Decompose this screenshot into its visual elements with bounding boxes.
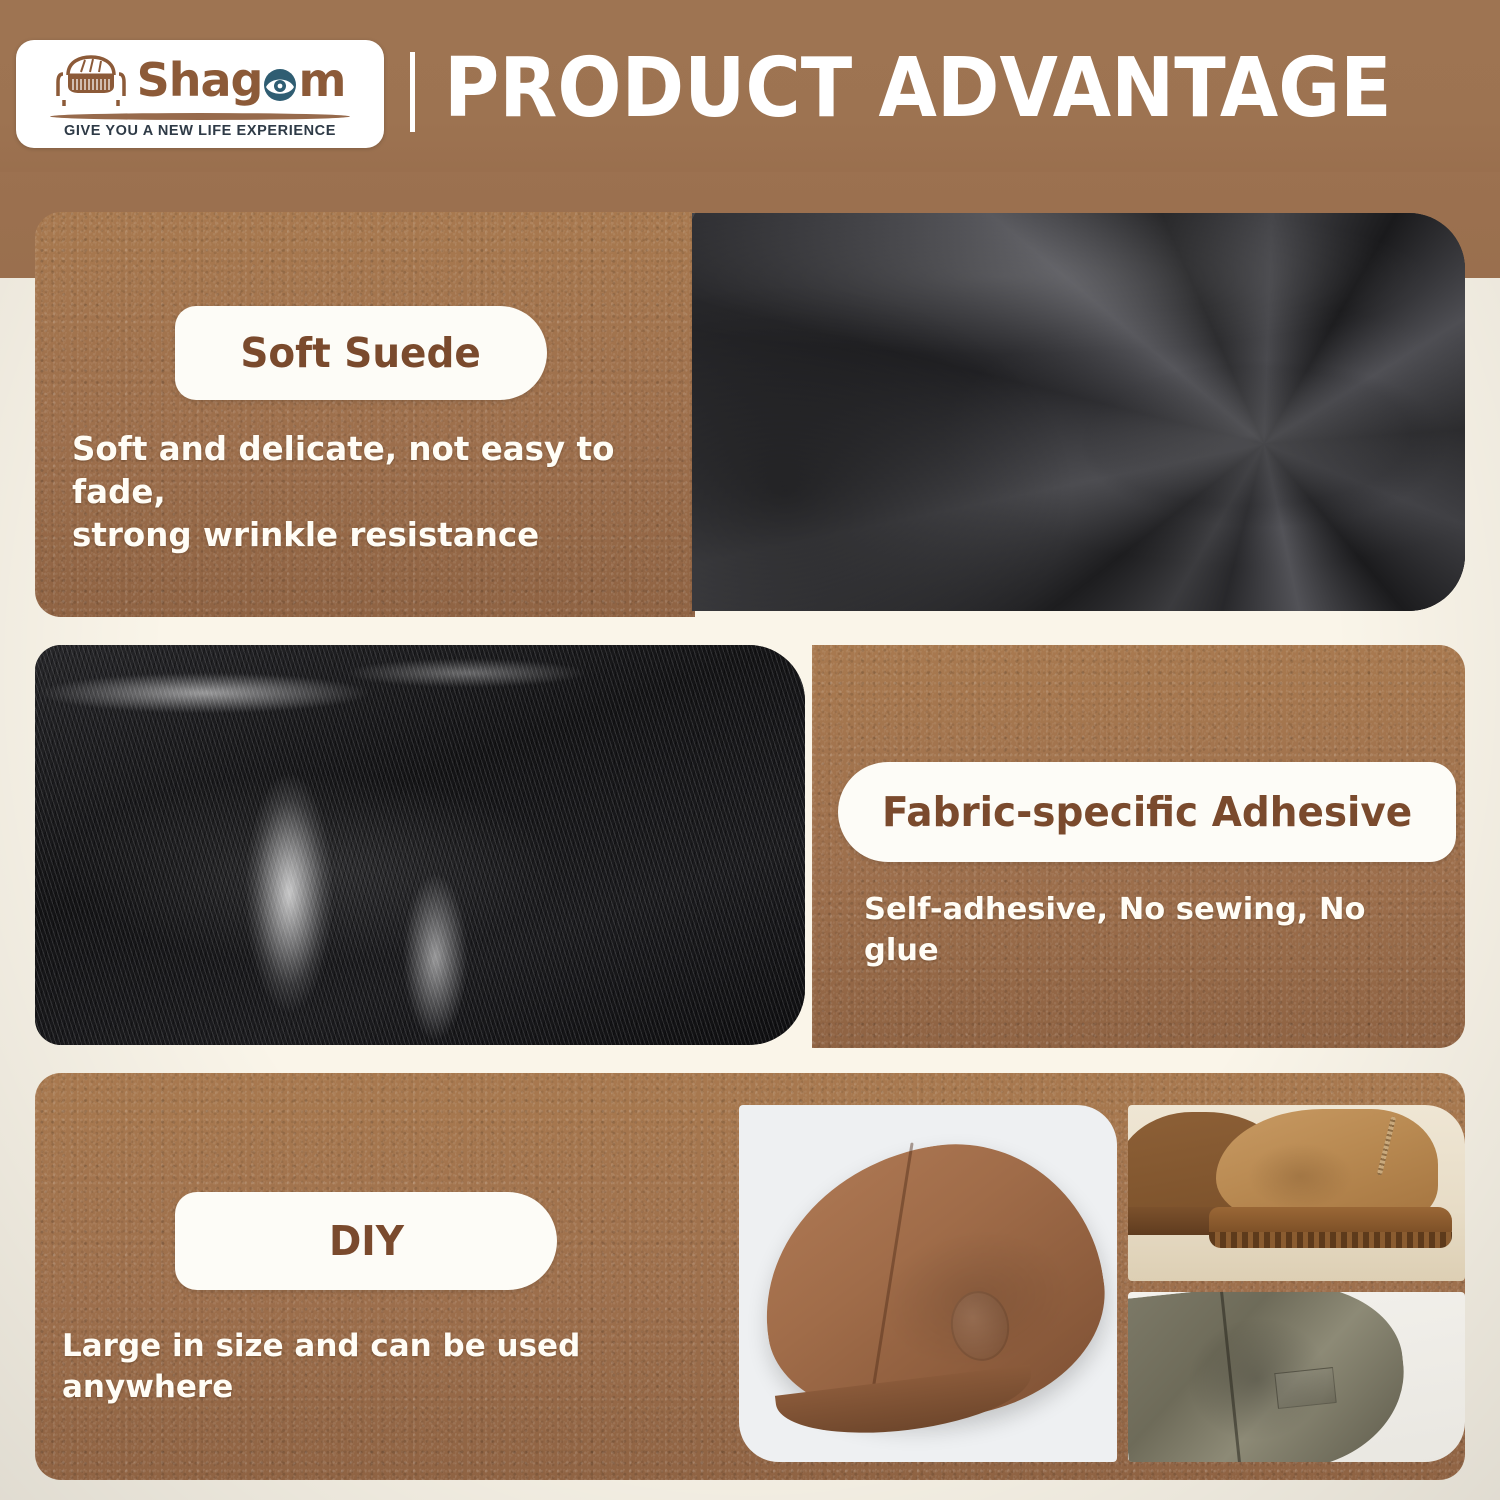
jacket-pocket [1275, 1367, 1338, 1409]
tan-suede-platform-boot-photo [1128, 1105, 1465, 1281]
feature-title-pill-soft-suede: Soft Suede [175, 306, 547, 400]
feature-title-diy: DIY [328, 1217, 403, 1265]
brown-suede-flat-cap-photo [739, 1105, 1117, 1462]
brand-divider-swoosh [50, 113, 350, 120]
fur-highlight-overlay [35, 645, 805, 1045]
page-title: PRODUCT ADVANTAGE [444, 34, 1392, 144]
feature-description-line: strong wrinkle resistance [72, 514, 652, 557]
feature-description-adhesive: Self-adhesive, No sewing, No glue [864, 890, 1444, 971]
brand-logo: Shagm GIVE YOU A NEW LIFE EXPERIENCE [16, 40, 384, 148]
feature-description-line: Soft and delicate, not easy to fade, [72, 428, 652, 514]
sofa-icon [55, 52, 127, 108]
brand-wordmark: Shagm [137, 57, 346, 103]
boot-tread [1209, 1232, 1452, 1248]
brand-tagline-wrap: GIVE YOU A NEW LIFE EXPERIENCE [35, 113, 365, 139]
header-divider [410, 52, 415, 132]
olive-suede-jacket-photo [1128, 1292, 1465, 1462]
feature-description-diy: Large in size and can be used anywhere [62, 1326, 742, 1408]
jacket-body-shape [1128, 1292, 1413, 1462]
brand-wordmark-part2: m [298, 57, 345, 103]
feature-image-soft-suede [692, 213, 1465, 611]
feature-description-line: Self-adhesive, No sewing, No glue [864, 890, 1444, 971]
brand-wordmark-part1: Shag [137, 57, 263, 103]
brand-tagline: GIVE YOU A NEW LIFE EXPERIENCE [35, 123, 365, 139]
eye-logo-icon [263, 63, 297, 97]
feature-title-pill-diy: DIY [175, 1192, 557, 1290]
brand-logo-row: Shagm [55, 49, 346, 111]
feature-description-soft-suede: Soft and delicate, not easy to fade, str… [72, 428, 652, 558]
feature-title-pill-adhesive: Fabric-specific Adhesive [838, 762, 1456, 862]
feature-image-adhesive [35, 645, 805, 1045]
feature-title-soft-suede: Soft Suede [241, 329, 481, 377]
feature-description-line: Large in size and can be used anywhere [62, 1326, 742, 1408]
feature-title-adhesive: Fabric-specific Adhesive [882, 788, 1412, 836]
fabric-sheen-overlay [692, 213, 1465, 611]
